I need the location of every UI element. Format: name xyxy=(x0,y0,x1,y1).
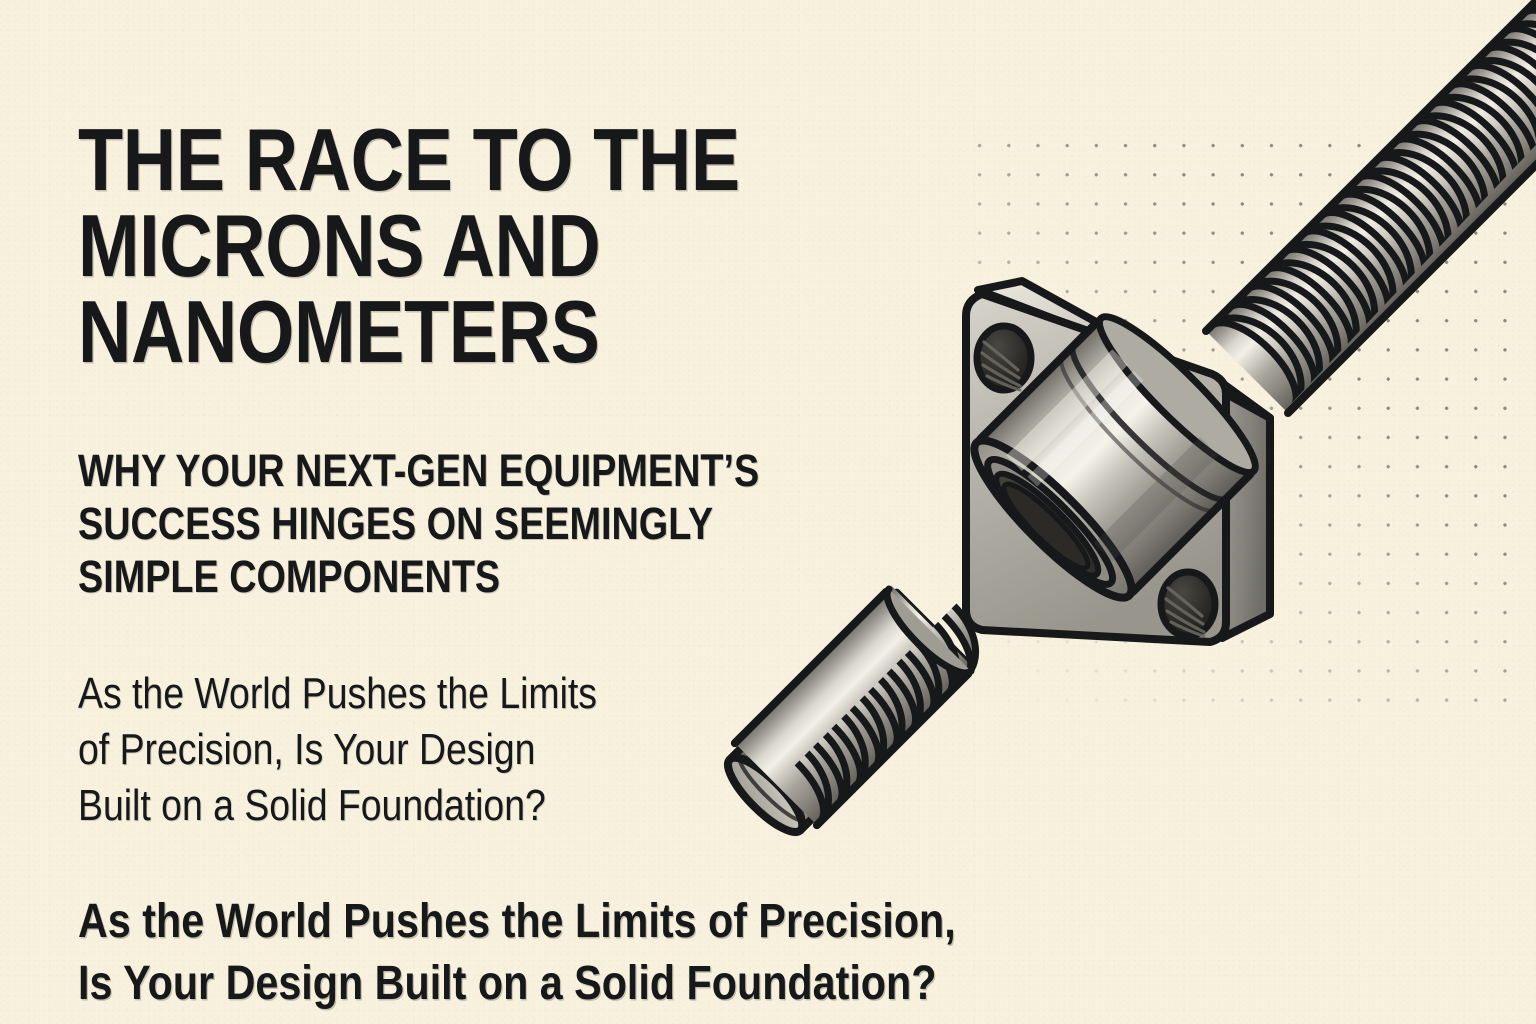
lede-line-3: Built on a Solid Foundation? xyxy=(78,778,758,834)
text-column: THE RACE TO THE MICRONS AND NANOMETERS W… xyxy=(78,0,1138,1024)
lede-paragraph: As the World Pushes the Limits of Precis… xyxy=(78,666,758,834)
headline-line-2: MICRONS AND xyxy=(78,203,800,289)
lede-line-2: of Precision, Is Your Design xyxy=(78,722,758,778)
subhead-line-3: SIMPLE COMPONENTS xyxy=(78,551,851,604)
kicker-line-1: As the World Pushes the Limits of Precis… xyxy=(78,891,1110,953)
headline-line-3: NANOMETERS xyxy=(78,289,800,375)
subhead-line-1: WHY YOUR NEXT-GEN EQUIPMENT’S xyxy=(78,445,851,498)
page-title: THE RACE TO THE MICRONS AND NANOMETERS xyxy=(78,117,800,374)
page-subtitle: WHY YOUR NEXT-GEN EQUIPMENT’S SUCCESS HI… xyxy=(78,445,851,603)
headline-line-1: THE RACE TO THE xyxy=(78,117,800,203)
kicker-statement: As the World Pushes the Limits of Precis… xyxy=(78,891,1110,1016)
poster-canvas: THE RACE TO THE MICRONS AND NANOMETERS W… xyxy=(0,0,1536,1024)
kicker-line-2: Is Your Design Built on a Solid Foundati… xyxy=(78,953,1110,1015)
subhead-line-2: SUCCESS HINGES ON SEEMINGLY xyxy=(78,498,851,551)
lede-line-1: As the World Pushes the Limits xyxy=(78,666,758,722)
